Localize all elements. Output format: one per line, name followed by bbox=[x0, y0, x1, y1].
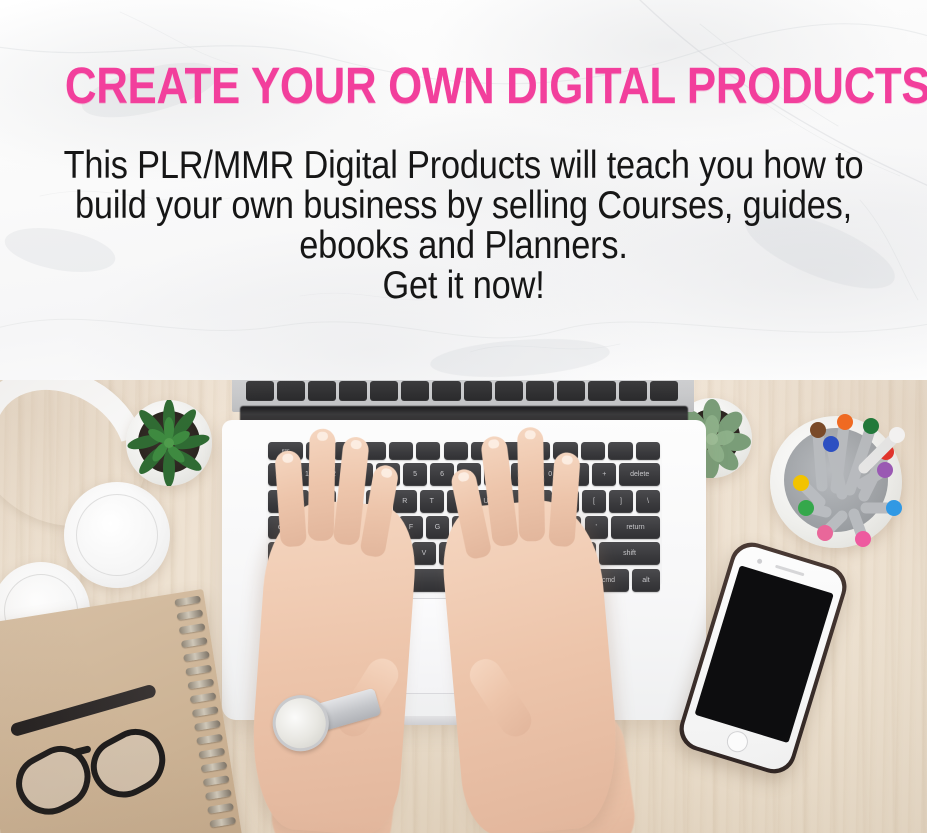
promo-graphic: CREATE YOUR OWN DIGITAL PRODUCTS This PL… bbox=[0, 0, 927, 833]
right-middle-finger bbox=[517, 427, 545, 541]
laptop-lid-reflection bbox=[246, 381, 678, 401]
key-power[interactable] bbox=[636, 442, 660, 460]
desk-photo: esc ~ 1 2 bbox=[0, 380, 927, 833]
key-bracket-left[interactable]: [ bbox=[582, 490, 606, 513]
key-r[interactable]: R bbox=[393, 490, 417, 513]
left-hand bbox=[247, 497, 420, 833]
key-g[interactable]: G bbox=[426, 516, 449, 539]
fingernail bbox=[488, 439, 500, 449]
right-thumb bbox=[464, 653, 538, 743]
key-5[interactable]: 5 bbox=[403, 463, 427, 486]
key-f11[interactable] bbox=[581, 442, 605, 460]
body-copy: This PLR/MMR Digital Products will teach… bbox=[0, 146, 927, 306]
fingernail bbox=[525, 430, 536, 439]
home-button[interactable] bbox=[724, 729, 750, 755]
key-return[interactable]: return bbox=[611, 516, 660, 539]
key-v[interactable]: V bbox=[412, 542, 435, 565]
key-bracket-right[interactable]: ] bbox=[609, 490, 633, 513]
fingernail bbox=[561, 455, 573, 465]
front-camera-icon bbox=[757, 558, 763, 564]
fingernail bbox=[282, 453, 294, 463]
succulent-leaves-left bbox=[126, 400, 212, 486]
body-line-1: This PLR/MMR Digital Products will teach… bbox=[56, 146, 872, 186]
earpiece-speaker bbox=[775, 565, 805, 577]
key-f4[interactable] bbox=[389, 442, 413, 460]
key-equals[interactable]: + bbox=[592, 463, 616, 486]
key-backslash[interactable]: \ bbox=[636, 490, 660, 513]
key-6[interactable]: 6 bbox=[430, 463, 454, 486]
key-t[interactable]: T bbox=[420, 490, 444, 513]
key-delete[interactable]: delete bbox=[619, 463, 660, 486]
body-line-4: Get it now! bbox=[56, 266, 872, 306]
body-line-2: build your own business by selling Cours… bbox=[56, 186, 872, 226]
page-title: CREATE YOUR OWN DIGITAL PRODUCTS bbox=[65, 60, 862, 111]
key-shift-right[interactable]: shift bbox=[599, 542, 660, 565]
headphone-earcup-right bbox=[64, 482, 170, 588]
header-band: CREATE YOUR OWN DIGITAL PRODUCTS This PL… bbox=[0, 0, 927, 380]
fingernail bbox=[457, 471, 470, 482]
key-option-right[interactable]: alt bbox=[632, 569, 660, 592]
left-middle-finger bbox=[308, 429, 336, 541]
body-line-3: ebooks and Planners. bbox=[56, 226, 872, 266]
fingernail bbox=[350, 440, 362, 450]
key-f12[interactable] bbox=[608, 442, 632, 460]
fingernail bbox=[317, 432, 328, 441]
key-f6[interactable] bbox=[444, 442, 468, 460]
key-f5[interactable] bbox=[416, 442, 440, 460]
right-index-finger bbox=[548, 452, 580, 548]
fingernail bbox=[380, 468, 392, 479]
pens-group bbox=[770, 390, 920, 560]
